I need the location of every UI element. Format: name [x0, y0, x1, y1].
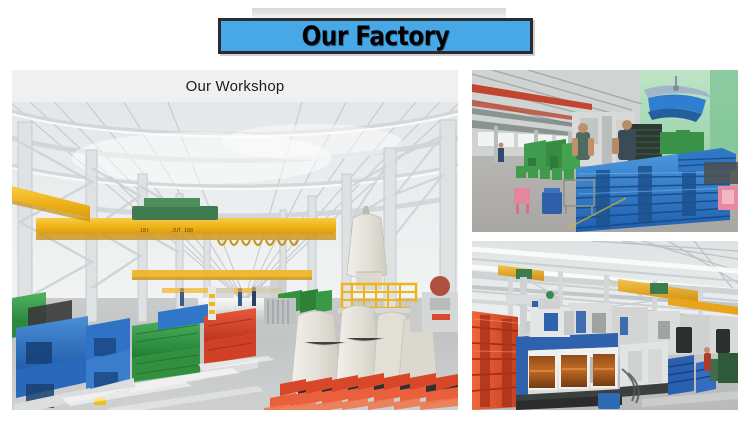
injection-molding-machine-line-photo: [472, 241, 738, 410]
workshop-caption-label: Our Workshop: [186, 78, 285, 95]
factory-workshop-interior-photo: 18t JUT 180: [12, 102, 458, 410]
main-workshop-panel: Our Workshop: [12, 70, 458, 410]
page-title-banner: Our Factory: [218, 18, 533, 54]
svg-text:18t: 18t: [140, 228, 149, 234]
page-title: Our Factory: [243, 21, 509, 51]
blue-plastic-pallet-stacks-photo: [472, 70, 738, 232]
workshop-caption-band: Our Workshop: [12, 70, 458, 102]
svg-text:JUT 180: JUT 180: [172, 228, 193, 234]
